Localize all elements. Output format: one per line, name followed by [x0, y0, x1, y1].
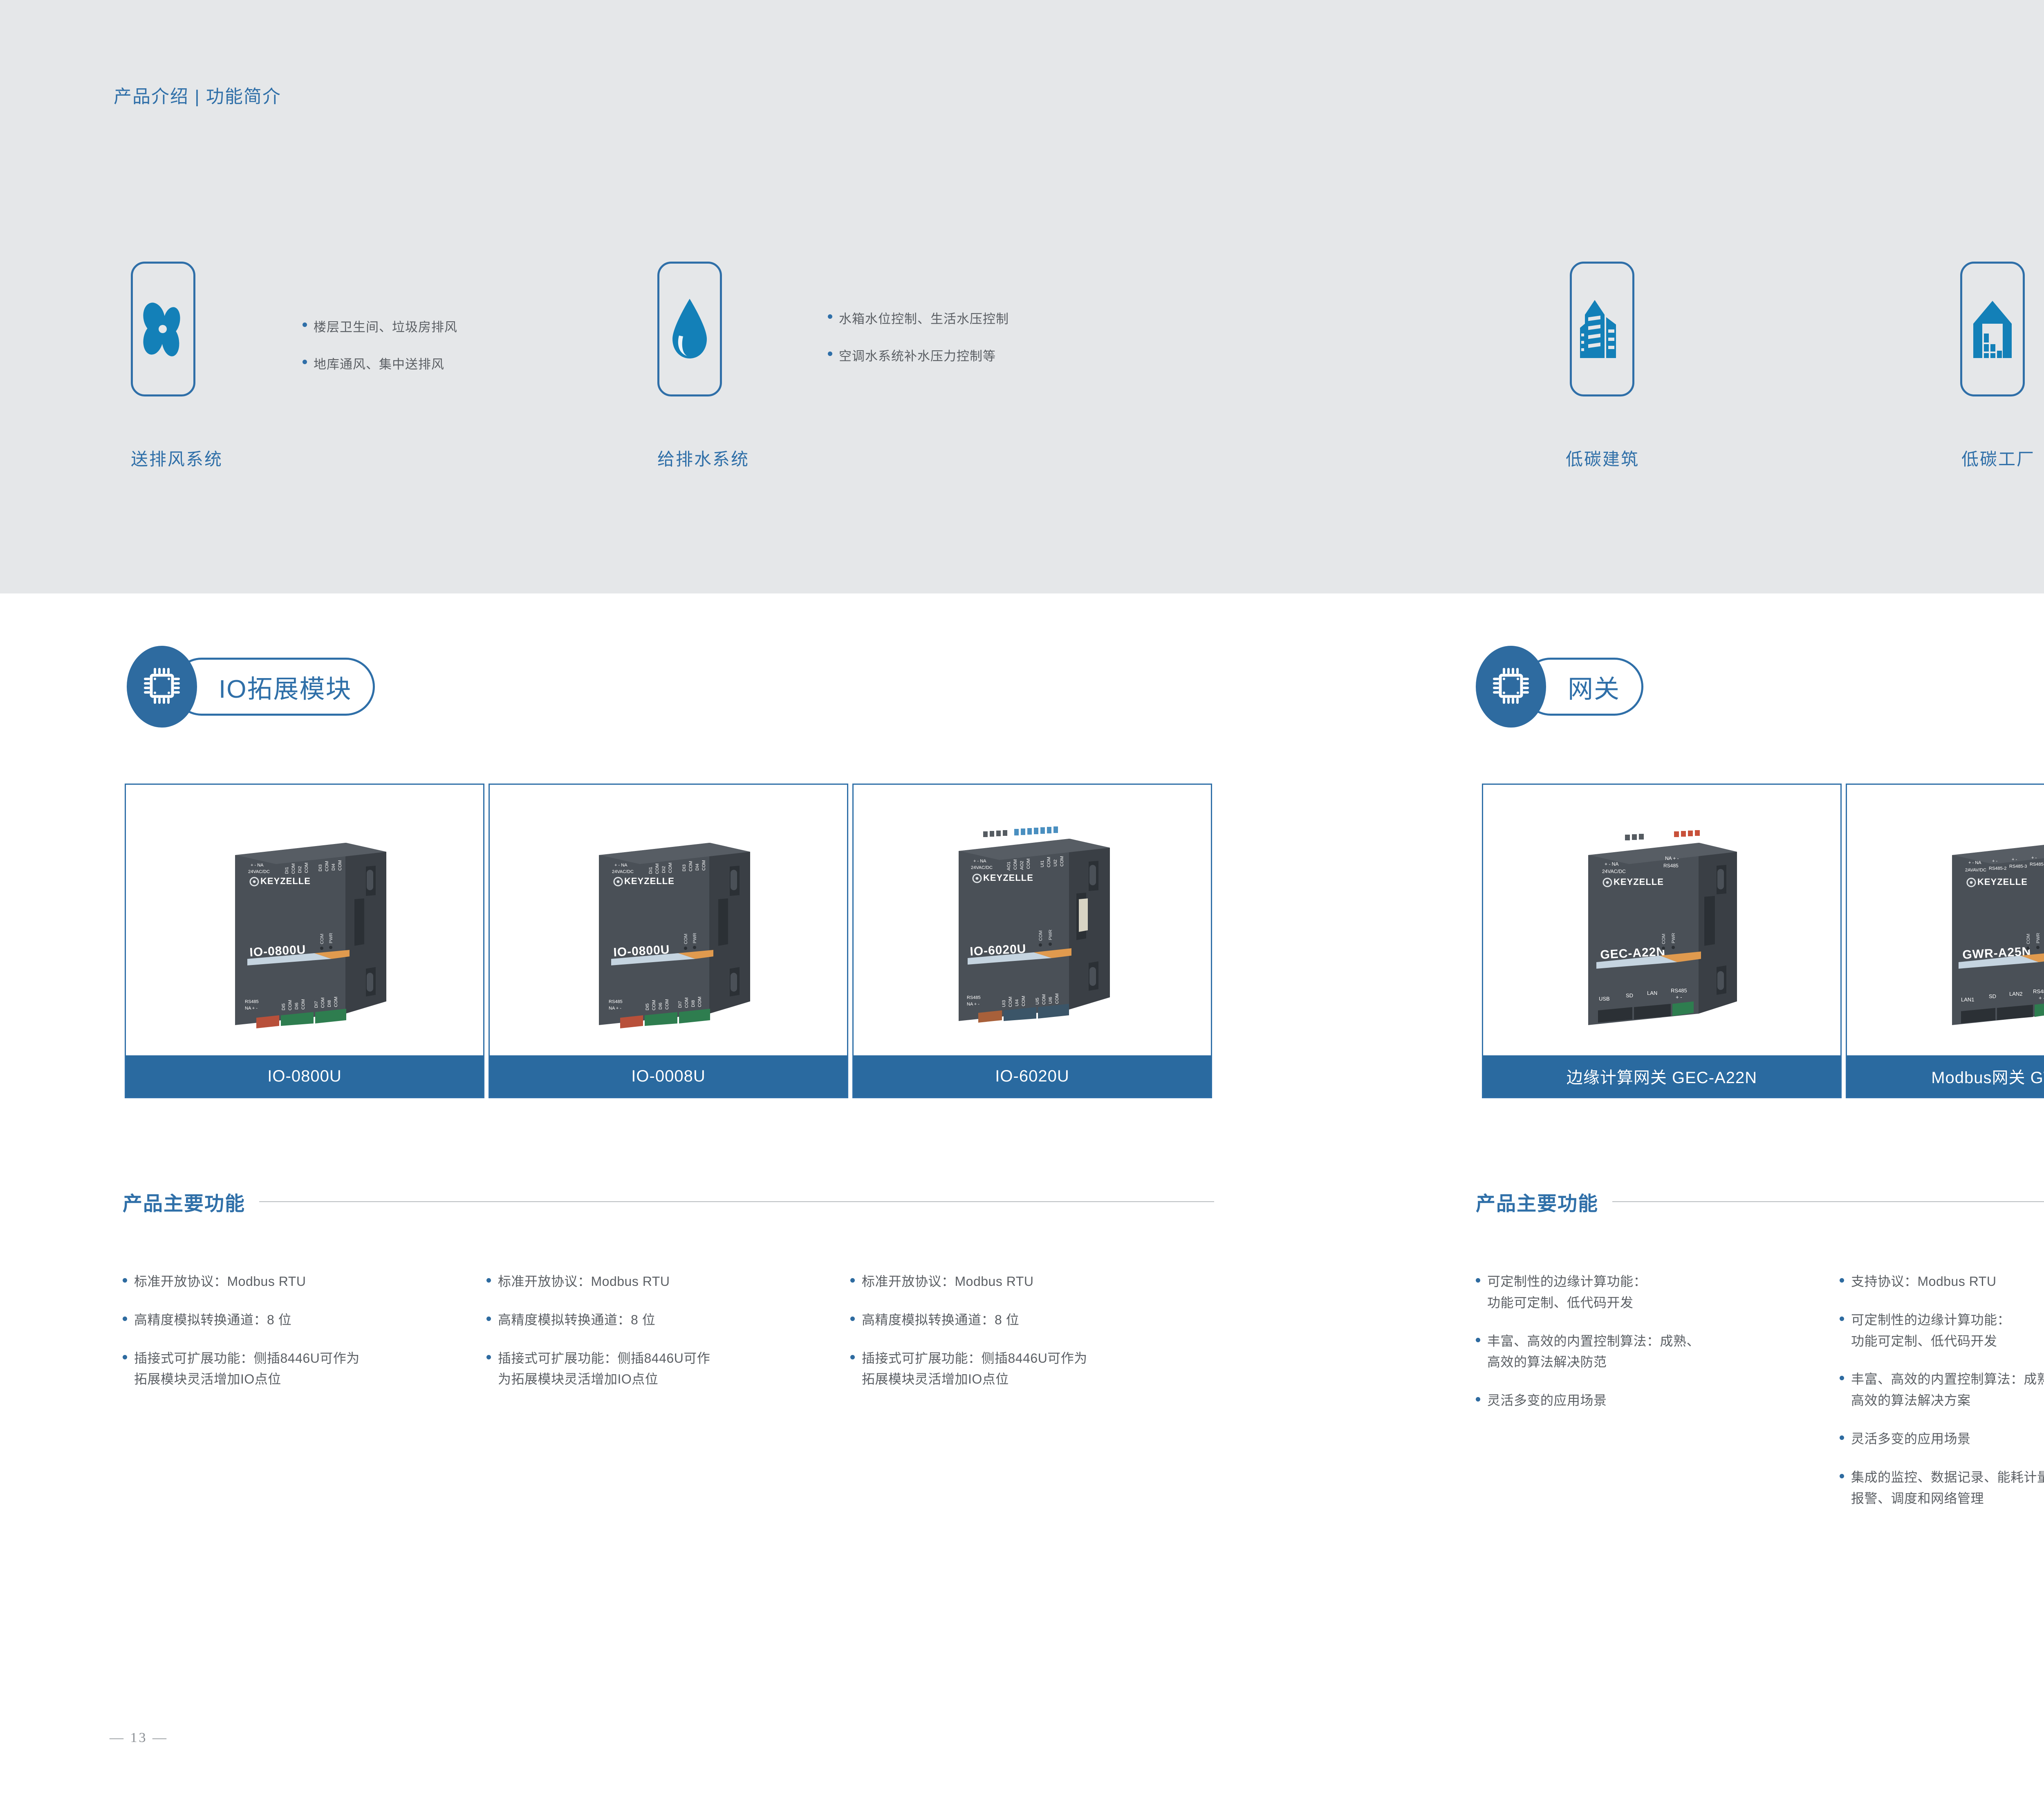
bullet-dot-icon — [123, 1317, 127, 1321]
svg-text:COM: COM — [301, 999, 306, 1010]
list-item: 插接式可扩展功能：侧插8446U可作 为拓展模块灵活增加IO点位 — [486, 1348, 838, 1390]
svg-text:AO1: AO1 — [1006, 862, 1011, 871]
svg-text:KEYZELLE: KEYZELLE — [983, 873, 1033, 883]
svg-text:NA + -: NA + - — [609, 1006, 621, 1011]
svg-text:24VAC/DC: 24VAC/DC — [971, 865, 993, 870]
product-card-io-0008u[interactable]: + - NA24VAC/DC DI1 COM DI2 COM DI3 COM D… — [489, 784, 848, 1098]
bullet-dot-icon — [1840, 1435, 1844, 1440]
svg-text:UI2: UI2 — [1053, 860, 1058, 867]
list-item: 灵活多变的应用场景 — [1476, 1390, 1827, 1411]
svg-text:DI5: DI5 — [645, 1003, 650, 1010]
svg-text:DI4: DI4 — [695, 864, 700, 871]
fan-icon — [141, 298, 186, 360]
svg-text:+ - NA: + - NA — [1968, 860, 1981, 865]
system-label-ventilation: 送排风系统 — [131, 446, 223, 470]
svg-text:SD: SD — [1626, 992, 1633, 999]
svg-text:RS485: RS485 — [609, 999, 623, 1004]
svg-text:RS485: RS485 — [967, 995, 981, 1000]
page-number-left: — 13 — — [110, 1730, 168, 1746]
svg-text:RS485: RS485 — [245, 999, 259, 1004]
svg-text:+ -: + - — [2031, 855, 2037, 860]
bullet-dot-icon — [1840, 1278, 1844, 1283]
svg-text:COM: COM — [652, 1000, 657, 1010]
product-photo: + - NA24VAC/DC AO1 COM AO2 COM UI1 COM U… — [854, 785, 1211, 1055]
system-tile-water — [657, 262, 722, 396]
bullet-dot-icon — [486, 1355, 491, 1359]
list-item: 可定制性的边缘计算功能： 功能可定制、低代码开发 — [1476, 1271, 1827, 1314]
svg-text:COM: COM — [338, 860, 343, 871]
svg-text:COM: COM — [320, 934, 325, 944]
svg-text:PWR: PWR — [1671, 933, 1676, 943]
svg-text:KEYZELLE: KEYZELLE — [1614, 877, 1664, 887]
list-item: 丰富、高效的内置控制算法：成熟、 高效的算法解决防范 — [1476, 1331, 1827, 1373]
svg-text:COM: COM — [1047, 857, 1051, 867]
bullet-dot-icon — [1840, 1474, 1844, 1478]
svg-text:COM: COM — [688, 861, 693, 871]
svg-text:COM: COM — [1661, 934, 1666, 944]
system-tile-ventilation — [131, 262, 195, 396]
svg-text:DI8: DI8 — [327, 1000, 332, 1007]
chip-badge-io — [127, 646, 197, 728]
svg-text:COM: COM — [684, 997, 689, 1008]
product-photo: + - NA24VAC/DC DI1 COM DI2 COM DI3 COM D… — [126, 785, 483, 1055]
list-item: 标准开放协议：Modbus RTU — [850, 1271, 1210, 1292]
list-item: 空调水系统补水压力控制等 — [828, 346, 1009, 364]
svg-text:DI7: DI7 — [678, 1001, 683, 1008]
svg-text:PWR: PWR — [1048, 929, 1053, 940]
list-item: 标准开放协议：Modbus RTU — [486, 1271, 838, 1292]
chip-icon — [141, 665, 183, 709]
svg-text:DI5: DI5 — [281, 1003, 286, 1010]
svg-text:+ - NA: + - NA — [614, 863, 628, 868]
features-column-io-2: 标准开放协议：Modbus RTU 高精度模拟转换通道：8 位 插接式可扩展功能… — [486, 1271, 838, 1407]
svg-text:+ -: + - — [1676, 994, 1682, 1000]
svg-text:DI6: DI6 — [658, 1003, 663, 1010]
svg-text:USB: USB — [1599, 996, 1610, 1002]
svg-text:RS485-1: RS485-1 — [2033, 988, 2044, 994]
svg-text:LAN2: LAN2 — [2009, 991, 2023, 997]
svg-text:RS485-4: RS485-4 — [2030, 862, 2044, 867]
list-item: 高精度模拟转换通道：8 位 — [850, 1310, 1210, 1331]
list-item: 水箱水位控制、生活水压控制 — [828, 309, 1009, 327]
svg-text:COM: COM — [697, 996, 702, 1007]
svg-text:DI2: DI2 — [661, 866, 666, 873]
svg-text:UI1: UI1 — [1040, 860, 1045, 867]
features-title-gateway: 产品主要功能 — [1476, 1187, 1598, 1216]
svg-text:PWR: PWR — [693, 933, 697, 943]
svg-text:KEYZELLE: KEYZELLE — [260, 876, 311, 886]
svg-text:+ - NA: + - NA — [251, 863, 264, 868]
list-item: 丰富、高效的内置控制算法：成熟、 高效的算法解决方案 — [1840, 1369, 2044, 1411]
svg-text:UI3: UI3 — [1002, 1000, 1006, 1007]
svg-text:NA + -: NA + - — [967, 1002, 979, 1007]
svg-text:SD: SD — [1989, 993, 1996, 999]
bullet-dot-icon — [1476, 1338, 1480, 1342]
svg-text:DI3: DI3 — [682, 864, 687, 871]
scenario-label-building: 低碳建筑 — [1566, 446, 1639, 470]
svg-text:DI7: DI7 — [314, 1001, 319, 1008]
svg-text:COM: COM — [1013, 859, 1018, 870]
features-header-gateway: 产品主要功能 — [1476, 1187, 2044, 1216]
chip-badge-gateway — [1476, 646, 1546, 728]
section-pill-io: IO拓展模块 — [173, 658, 375, 716]
svg-text:DI4: DI4 — [331, 864, 336, 871]
features-column-io-1: 标准开放协议：Modbus RTU 高精度模拟转换通道：8 位 插接式可扩展功能… — [123, 1271, 474, 1407]
bullet-dot-icon — [850, 1278, 855, 1283]
svg-text:24VAC/DC: 24VAC/DC — [248, 869, 270, 874]
svg-text:RS485-3: RS485-3 — [2009, 864, 2027, 869]
svg-text:+ -: + - — [2039, 995, 2044, 1001]
scenario-tile-building — [1570, 262, 1634, 396]
section-title-gateway: 网关 — [1568, 668, 1620, 705]
svg-text:COM: COM — [304, 862, 309, 873]
product-caption: 边缘计算网关 GEC-A22N — [1483, 1055, 1840, 1097]
svg-text:NA + -: NA + - — [245, 1006, 258, 1011]
scenario-label-factory: 低碳工厂 — [1961, 446, 2035, 470]
scenario-tile-factory — [1960, 262, 2025, 396]
features-column-io-3: 标准开放协议：Modbus RTU 高精度模拟转换通道：8 位 插接式可扩展功能… — [850, 1271, 1210, 1407]
bullet-dot-icon — [486, 1317, 491, 1321]
svg-text:DI1: DI1 — [285, 867, 289, 874]
svg-text:COM: COM — [325, 861, 329, 871]
svg-text:+ - NA: + - NA — [1605, 861, 1618, 867]
product-caption: IO-0008U — [490, 1055, 847, 1097]
svg-text:RS485-2: RS485-2 — [1989, 866, 2006, 871]
svg-text:COM: COM — [1060, 856, 1065, 867]
bullet-dot-icon — [123, 1278, 127, 1283]
system-label-water: 给排水系统 — [657, 446, 749, 470]
svg-text:DI8: DI8 — [691, 1000, 696, 1007]
svg-text:PWR: PWR — [2036, 933, 2041, 943]
svg-text:LAN1: LAN1 — [1961, 996, 1975, 1003]
svg-text:2AVAV/DC: 2AVAV/DC — [1965, 868, 1986, 873]
svg-text:COM: COM — [1055, 993, 1060, 1004]
product-caption: IO-6020U — [854, 1055, 1211, 1097]
svg-text:LAN: LAN — [1647, 990, 1657, 996]
svg-text:COM: COM — [684, 934, 688, 944]
page-header-left: 产品介绍 | 功能简介 — [114, 82, 281, 108]
list-item: 灵活多变的应用场景 — [1840, 1429, 2044, 1450]
svg-text:COM: COM — [288, 1000, 293, 1010]
svg-text:COM: COM — [665, 999, 670, 1010]
svg-text:COM: COM — [668, 862, 673, 873]
features-column-gateway-1: 可定制性的边缘计算功能： 功能可定制、低代码开发 丰富、高效的内置控制算法：成熟… — [1476, 1271, 1827, 1429]
product-card-gwr-a25n[interactable]: + - NA + -+ - + -+ - 2AVAV/DCRS485-2 RS4… — [1846, 784, 2044, 1098]
svg-text:+ -: + - — [1992, 859, 1997, 864]
list-item: 楼层卫生间、垃圾房排风 — [303, 317, 457, 335]
svg-text:COM: COM — [1042, 994, 1047, 1005]
system-bullets-ventilation: 楼层卫生间、垃圾房排风 地库通风、集中送排风 — [303, 317, 457, 391]
features-column-gateway-2: 支持协议：Modbus RTU 可定制性的边缘计算功能： 功能可定制、低代码开发… — [1840, 1271, 2044, 1527]
svg-text:COM: COM — [1038, 930, 1043, 941]
list-item: 插接式可扩展功能：侧插8446U可作为 拓展模块灵活增加IO点位 — [850, 1348, 1210, 1390]
bullet-dot-icon — [828, 352, 832, 356]
product-card-gec-a22n[interactable]: + - NA24VAC/DC NA + -RS485 KEYZELLE GEC-… — [1482, 784, 1842, 1098]
svg-text:24VAC/DC: 24VAC/DC — [1602, 869, 1626, 874]
product-photo: + - NA + -+ - + -+ - 2AVAV/DCRS485-2 RS4… — [1847, 785, 2044, 1055]
svg-text:KEYZELLE: KEYZELLE — [624, 876, 675, 886]
svg-text:DI2: DI2 — [298, 866, 303, 873]
features-title-io: 产品主要功能 — [123, 1187, 245, 1216]
svg-text:RS485: RS485 — [1671, 987, 1687, 994]
product-card-io-0800u[interactable]: + - NA24VAC/DC DI1 COM DI2 COM DI3 COM D… — [125, 784, 484, 1098]
product-card-io-6020u[interactable]: + - NA24VAC/DC AO1 COM AO2 COM UI1 COM U… — [852, 784, 1212, 1098]
product-photo: + - NA24VAC/DC NA + -RS485 KEYZELLE GEC-… — [1483, 785, 1840, 1055]
bullet-dot-icon — [850, 1355, 855, 1359]
bullet-dot-icon — [486, 1278, 491, 1283]
water-drop-icon — [670, 296, 709, 362]
svg-text:COM: COM — [1021, 996, 1026, 1006]
bullet-dot-icon — [1476, 1397, 1480, 1402]
list-item: 地库通风、集中送排风 — [303, 354, 457, 372]
product-caption: IO-0800U — [126, 1055, 483, 1097]
svg-text:COM: COM — [320, 997, 325, 1008]
svg-text:COM: COM — [334, 996, 338, 1007]
bullet-dot-icon — [1840, 1376, 1844, 1380]
svg-text:COM: COM — [1008, 996, 1013, 1007]
svg-text:COM: COM — [2026, 934, 2031, 944]
bullet-dot-icon — [1476, 1278, 1480, 1283]
svg-text:NA + -: NA + - — [1665, 855, 1679, 861]
svg-text:DI1: DI1 — [648, 867, 653, 874]
bullet-dot-icon — [123, 1355, 127, 1359]
bullet-dot-icon — [303, 360, 307, 364]
list-item: 支持协议：Modbus RTU — [1840, 1271, 2044, 1292]
svg-text:KEYZELLE: KEYZELLE — [1977, 877, 2028, 887]
features-header-io: 产品主要功能 — [123, 1187, 1214, 1216]
features-rule — [1612, 1201, 2044, 1202]
system-bullets-water: 水箱水位控制、生活水压控制 空调水系统补水压力控制等 — [828, 309, 1009, 383]
product-photo: + - NA24VAC/DC DI1 COM DI2 COM DI3 COM D… — [490, 785, 847, 1055]
svg-text:UI5: UI5 — [1035, 998, 1040, 1005]
svg-text:DI3: DI3 — [318, 864, 323, 871]
bullet-dot-icon — [1840, 1317, 1844, 1321]
svg-text:COM: COM — [655, 863, 660, 874]
svg-text:PWR: PWR — [329, 933, 334, 943]
bullet-dot-icon — [303, 322, 307, 327]
section-title-io: IO拓展模块 — [219, 668, 352, 705]
list-item: 标准开放协议：Modbus RTU — [123, 1271, 474, 1292]
features-rule — [259, 1201, 1214, 1202]
bullet-dot-icon — [850, 1317, 855, 1321]
svg-text:UI4: UI4 — [1015, 999, 1020, 1006]
bullet-dot-icon — [828, 314, 832, 319]
svg-text:AO2: AO2 — [1020, 861, 1024, 870]
top-scenario-band — [0, 0, 2044, 593]
svg-text:UI6: UI6 — [1048, 997, 1053, 1004]
svg-text:24VAC/DC: 24VAC/DC — [612, 869, 634, 874]
svg-text:RS485: RS485 — [1663, 863, 1679, 869]
list-item: 插接式可扩展功能：侧插8446U可作为 拓展模块灵活增加IO点位 — [123, 1348, 474, 1390]
list-item: 高精度模拟转换通道：8 位 — [123, 1310, 474, 1331]
list-item: 集成的监控、数据记录、能耗计量、 报警、调度和网络管理 — [1840, 1467, 2044, 1509]
list-item: 高精度模拟转换通道：8 位 — [486, 1310, 838, 1331]
svg-text:COM: COM — [291, 863, 296, 874]
product-caption: Modbus网关 GWR-A25N — [1847, 1055, 2044, 1097]
brochure-spread: 产品介绍 | 功能简介 产品介绍 | 功能简介 送排风系统 楼层卫生间、垃圾房排… — [0, 0, 2044, 1798]
svg-text:DI6: DI6 — [294, 1003, 299, 1010]
factory-icon — [1970, 298, 2015, 360]
svg-text:+ -: + - — [2012, 857, 2017, 862]
list-item: 可定制性的边缘计算功能： 功能可定制、低代码开发 — [1840, 1310, 2044, 1352]
chip-icon — [1490, 665, 1532, 709]
svg-text:COM: COM — [1026, 858, 1031, 869]
svg-text:+ - NA: + - NA — [973, 859, 986, 864]
svg-text:COM: COM — [702, 860, 706, 871]
office-building-icon — [1578, 298, 1627, 360]
